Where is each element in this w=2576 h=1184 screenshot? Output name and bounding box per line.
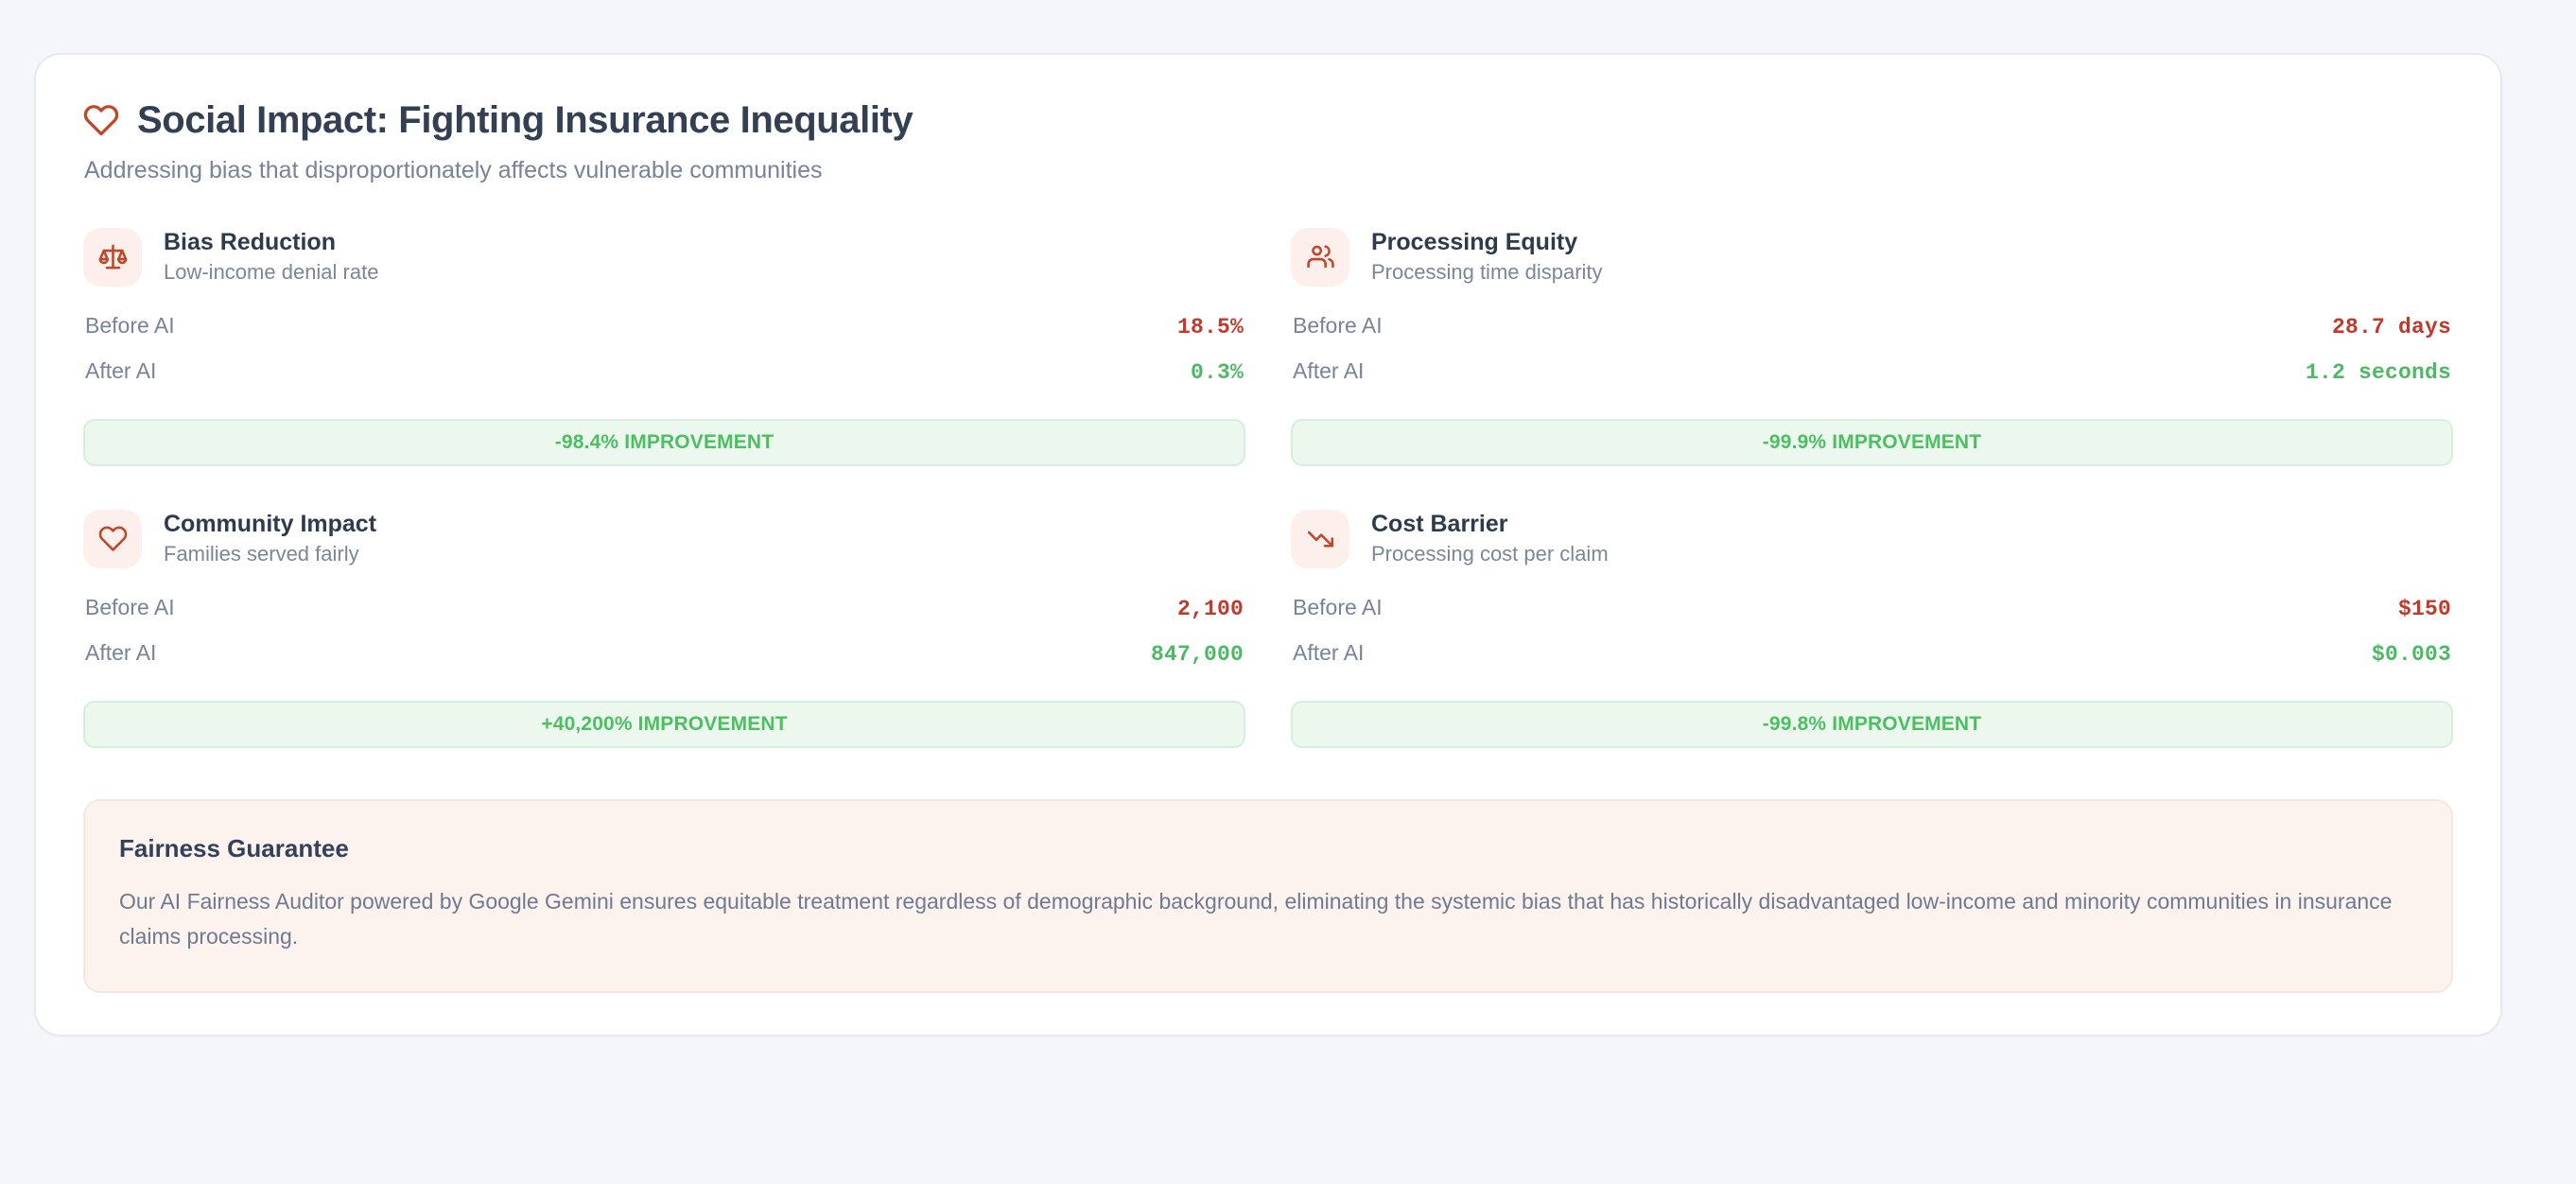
metric-row-label: After AI: [85, 642, 156, 664]
metric-header-text: Processing Equity Processing time dispar…: [1371, 229, 1603, 284]
metric-before-value: 18.5%: [1177, 317, 1244, 339]
improvement-text: -99.8% IMPROVEMENT: [1763, 713, 1981, 736]
improvement-badge: -98.4% IMPROVEMENT: [83, 419, 1245, 466]
social-impact-panel: Social Impact: Fighting Insurance Inequa…: [34, 53, 2502, 1036]
panel-header: Social Impact: Fighting Insurance Inequa…: [83, 98, 2453, 186]
page-title: Social Impact: Fighting Insurance Inequa…: [137, 98, 913, 142]
metric-header: Community Impact Families served fairly: [83, 510, 1245, 568]
improvement-text: -98.4% IMPROVEMENT: [555, 431, 774, 454]
scales-icon: [83, 228, 142, 287]
metric-before-value: $150: [2398, 599, 2451, 620]
heart-icon: [83, 102, 119, 138]
metric-header-text: Cost Barrier Processing cost per claim: [1371, 511, 1609, 566]
metric-after-value: 1.2 seconds: [2306, 362, 2451, 384]
page-subtitle: Addressing bias that disproportionately …: [83, 155, 2453, 186]
metric-header: Cost Barrier Processing cost per claim: [1291, 510, 2453, 568]
metric-description: Families served fairly: [164, 542, 376, 566]
metric-row-label: After AI: [1293, 360, 1364, 382]
metric-row-after: After AI 1.2 seconds: [1291, 357, 2453, 403]
heart-icon: [83, 510, 142, 568]
metric-card-community-impact: Community Impact Families served fairly …: [83, 510, 1245, 792]
title-row: Social Impact: Fighting Insurance Inequa…: [83, 98, 2453, 142]
metric-row-label: After AI: [1293, 642, 1364, 664]
metric-row-before: Before AI 28.7 days: [1291, 312, 2453, 357]
metric-row-label: After AI: [85, 360, 156, 382]
metric-before-value: 2,100: [1177, 599, 1244, 620]
metric-name: Cost Barrier: [1371, 511, 1609, 537]
trending-down-icon: [1291, 510, 1349, 568]
fairness-guarantee-title: Fairness Guarantee: [119, 835, 2417, 862]
fairness-guarantee-box: Fairness Guarantee Our AI Fairness Audit…: [83, 799, 2453, 993]
metric-before-value: 28.7 days: [2332, 317, 2451, 339]
metric-description: Low-income denial rate: [164, 260, 378, 284]
metric-name: Processing Equity: [1371, 229, 1603, 255]
page-root: Social Impact: Fighting Insurance Inequa…: [0, 0, 2576, 1184]
fairness-guarantee-text: Our AI Fairness Auditor powered by Googl…: [119, 884, 2417, 955]
users-icon: [1291, 228, 1349, 287]
metric-name: Bias Reduction: [164, 229, 378, 255]
improvement-badge: -99.8% IMPROVEMENT: [1291, 701, 2453, 748]
metric-name: Community Impact: [164, 511, 376, 537]
improvement-badge: +40,200% IMPROVEMENT: [83, 701, 1245, 748]
metric-card-processing-equity: Processing Equity Processing time dispar…: [1291, 228, 2453, 510]
metric-row-before: Before AI 18.5%: [83, 312, 1245, 357]
metric-after-value: 0.3%: [1191, 362, 1244, 384]
metric-row-before: Before AI 2,100: [83, 594, 1245, 639]
metric-row-after: After AI $0.003: [1291, 639, 2453, 685]
metric-after-value: 847,000: [1151, 644, 1244, 666]
metric-grid: Bias Reduction Low-income denial rate Be…: [83, 228, 2453, 792]
metric-row-before: Before AI $150: [1291, 594, 2453, 639]
metric-description: Processing cost per claim: [1371, 542, 1609, 566]
improvement-text: +40,200% IMPROVEMENT: [541, 713, 787, 736]
metric-after-value: $0.003: [2372, 644, 2451, 666]
metric-row-label: Before AI: [85, 597, 175, 618]
improvement-text: -99.9% IMPROVEMENT: [1763, 431, 1981, 454]
metric-description: Processing time disparity: [1371, 260, 1603, 284]
metric-row-label: Before AI: [1293, 315, 1383, 337]
metric-row-after: After AI 0.3%: [83, 357, 1245, 403]
metric-header: Bias Reduction Low-income denial rate: [83, 228, 1245, 287]
metric-row-after: After AI 847,000: [83, 639, 1245, 685]
metric-row-label: Before AI: [1293, 597, 1383, 618]
metric-header: Processing Equity Processing time dispar…: [1291, 228, 2453, 287]
improvement-badge: -99.9% IMPROVEMENT: [1291, 419, 2453, 466]
metric-card-bias-reduction: Bias Reduction Low-income denial rate Be…: [83, 228, 1245, 510]
metric-header-text: Bias Reduction Low-income denial rate: [164, 229, 378, 284]
metric-card-cost-barrier: Cost Barrier Processing cost per claim B…: [1291, 510, 2453, 792]
metric-row-label: Before AI: [85, 315, 175, 337]
metric-header-text: Community Impact Families served fairly: [164, 511, 376, 566]
